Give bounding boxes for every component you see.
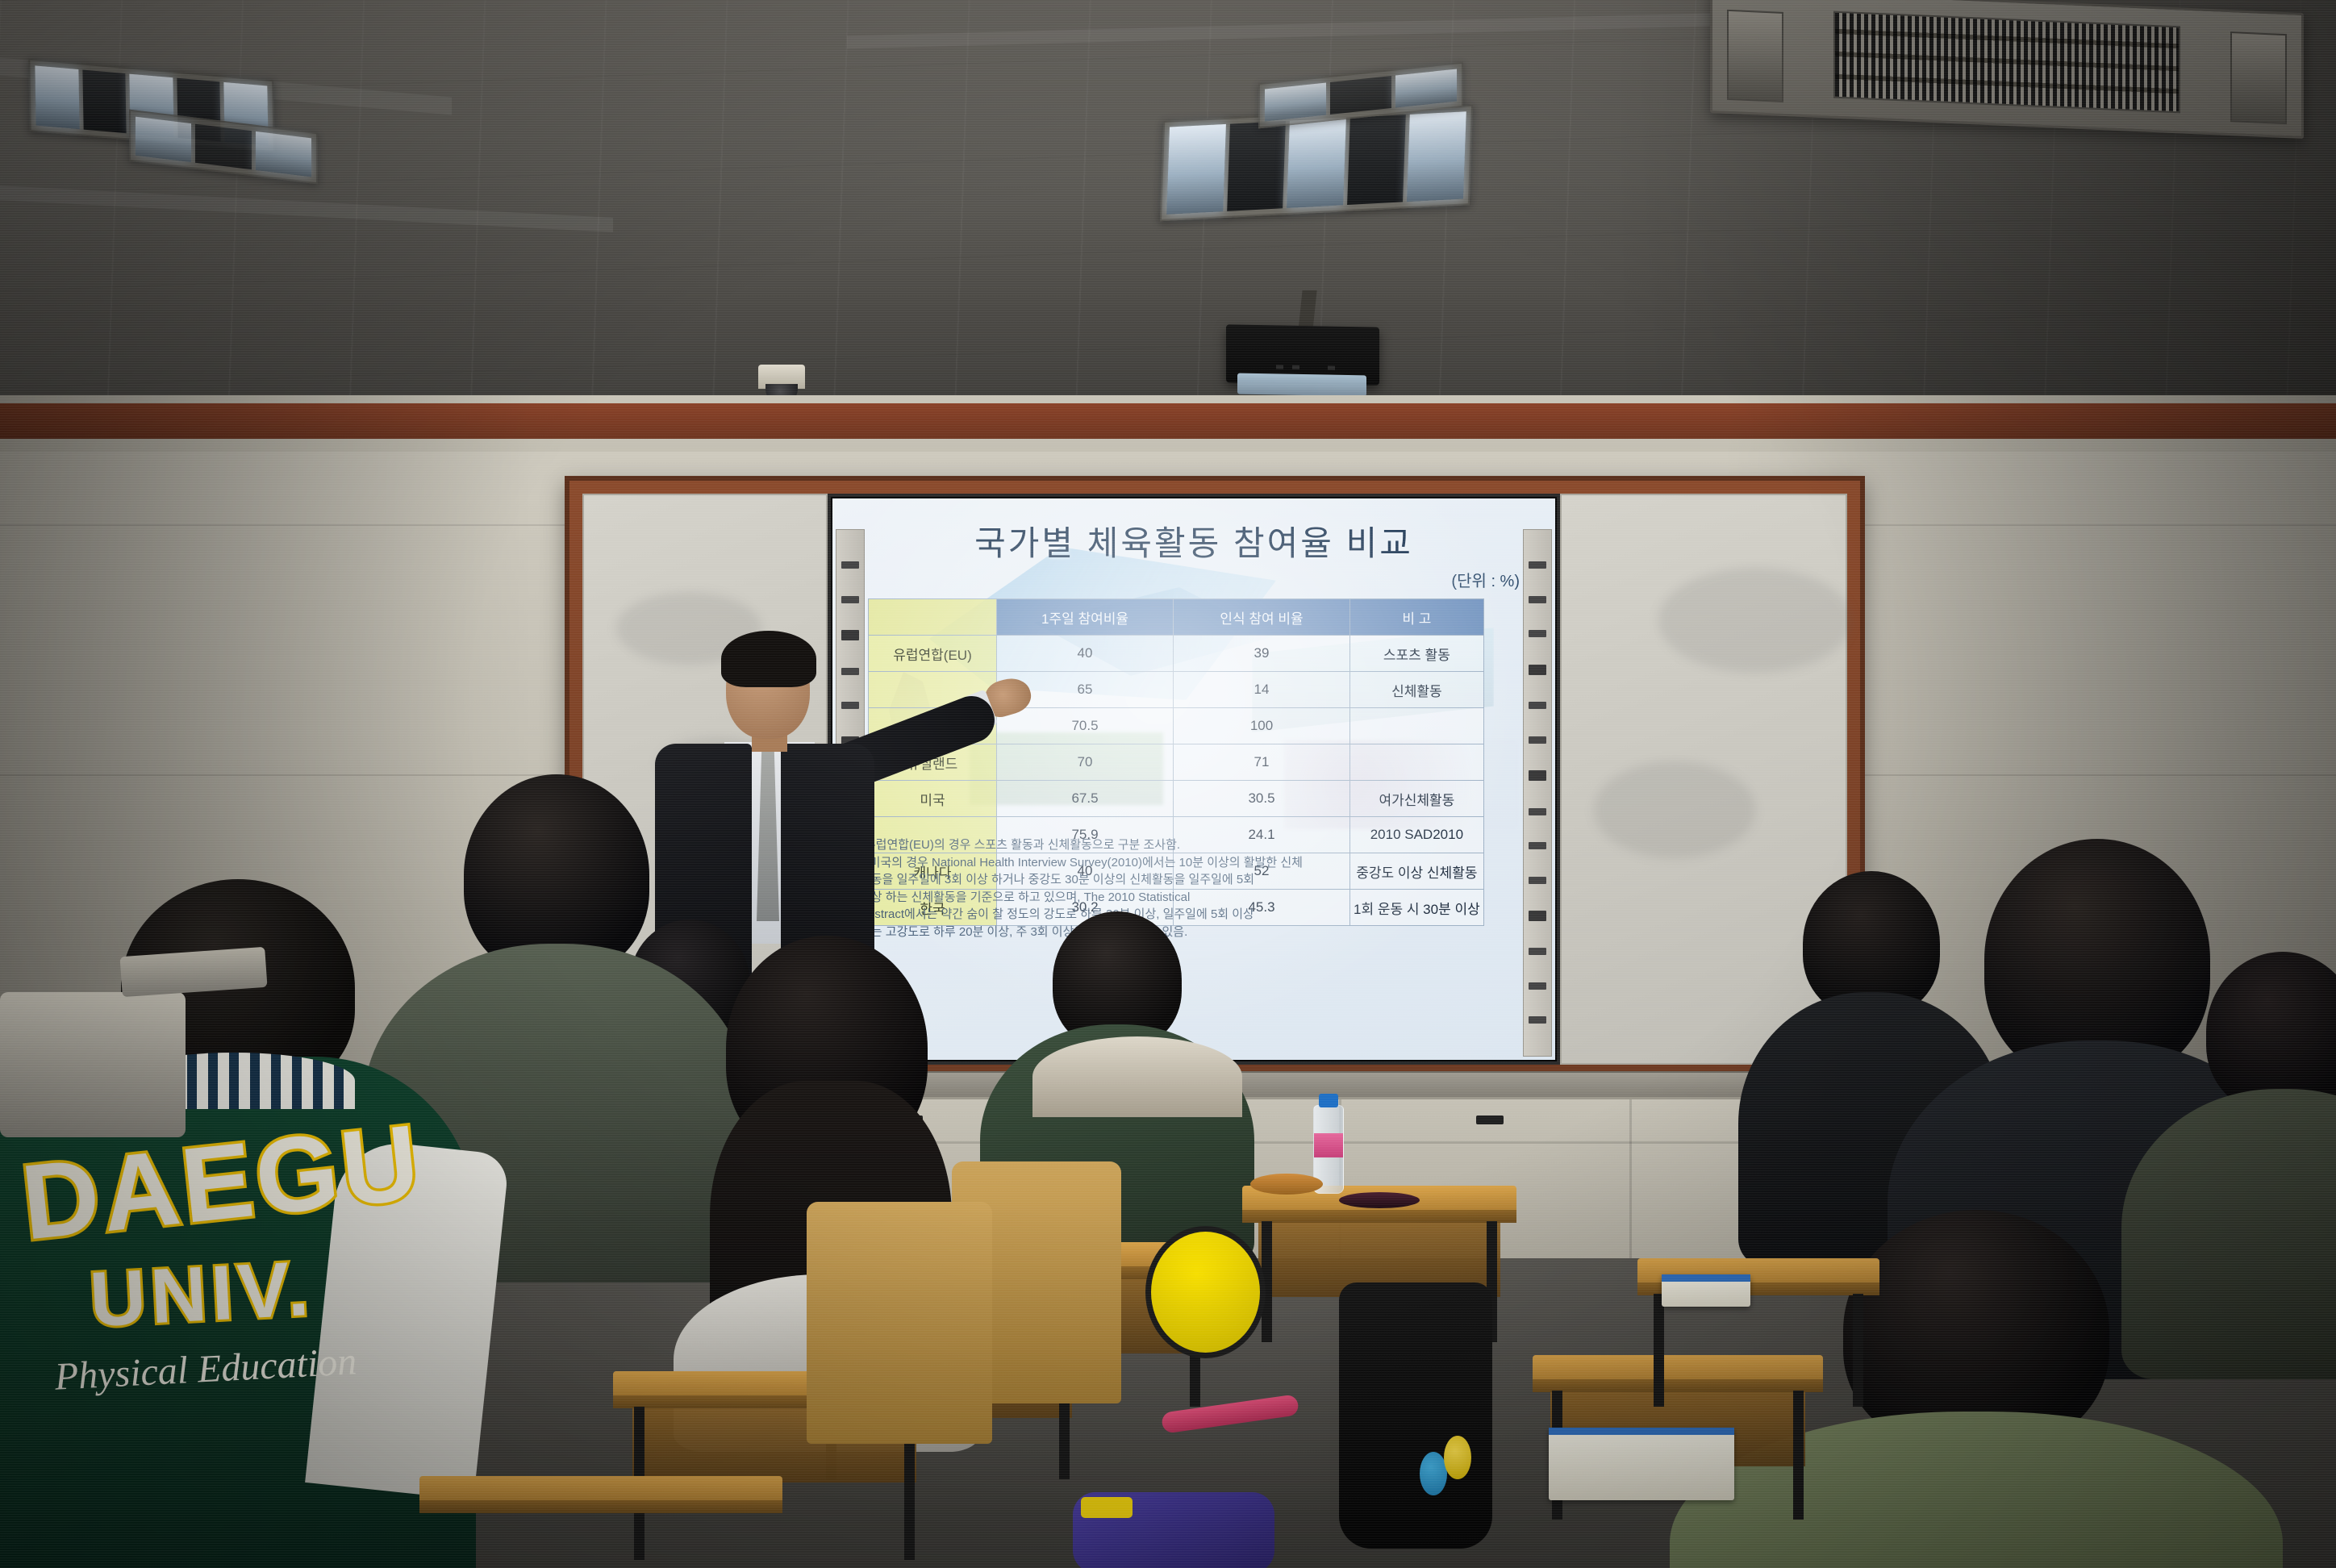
iwb-tool-icon[interactable] xyxy=(1529,630,1546,637)
desk-leg xyxy=(1654,1294,1664,1407)
slide-title: 국가별 체육활동 참여율 비교 xyxy=(832,516,1555,565)
table-cell-note xyxy=(1350,708,1484,744)
projector-icon xyxy=(1226,324,1379,385)
plush-keychain-icon xyxy=(1444,1436,1471,1479)
bag-tag xyxy=(1081,1497,1133,1518)
table-cell-note: 신체활동 xyxy=(1350,672,1484,708)
light-louver xyxy=(1330,76,1391,115)
light-tube xyxy=(1395,69,1457,107)
presenter-hair xyxy=(721,631,816,687)
table-cell-value2: 100 xyxy=(1174,708,1350,744)
table-header-col3: 비 고 xyxy=(1350,599,1484,636)
iwb-tool-icon[interactable] xyxy=(1529,736,1546,744)
iwb-tool-icon[interactable] xyxy=(1529,842,1546,849)
iwb-tool-icon[interactable] xyxy=(1529,982,1546,990)
seat-cushion[interactable] xyxy=(1145,1226,1266,1358)
student-hood xyxy=(1032,1036,1242,1117)
table-cell-value2: 14 xyxy=(1174,672,1350,708)
notebook-spine xyxy=(1549,1428,1734,1435)
light-tube xyxy=(35,65,79,129)
desk-leg xyxy=(1793,1391,1804,1520)
table-header-col2: 인식 참여 비율 xyxy=(1174,599,1350,636)
light-louver xyxy=(1347,115,1406,205)
light-louver xyxy=(82,69,127,133)
light-tube xyxy=(1265,83,1326,122)
plush-keychain-icon xyxy=(1420,1452,1447,1495)
notebook[interactable] xyxy=(1662,1274,1750,1307)
table-cell-note: 스포츠 활동 xyxy=(1350,636,1484,672)
light-tube xyxy=(256,131,311,177)
snack-item xyxy=(1250,1174,1323,1195)
cabinet-handle[interactable] xyxy=(1476,1116,1504,1124)
table-cell-note xyxy=(1350,744,1484,781)
iwb-tool-icon[interactable] xyxy=(1529,877,1546,884)
ac-vane xyxy=(2230,31,2287,124)
whiteboard-smudge xyxy=(1658,568,1852,673)
purple-bag[interactable] xyxy=(1073,1492,1274,1568)
light-louver xyxy=(195,124,251,170)
light-tube xyxy=(1287,118,1345,208)
student-chair[interactable] xyxy=(807,1202,992,1444)
iwb-tool-icon[interactable] xyxy=(1529,911,1546,921)
security-camera-icon xyxy=(758,365,805,389)
iwb-tool-icon[interactable] xyxy=(1529,1016,1546,1024)
dark-object xyxy=(1339,1192,1420,1208)
desk-top xyxy=(419,1476,782,1503)
table-cell-value2: 71 xyxy=(1174,744,1350,781)
iwb-tool-icon[interactable] xyxy=(1529,596,1546,603)
slide-unit-label: (단위 : %) xyxy=(1451,568,1520,591)
table-cell-value2: 39 xyxy=(1174,636,1350,672)
backpack[interactable] xyxy=(1339,1282,1492,1549)
iwb-toolbar-right[interactable] xyxy=(1523,529,1552,1057)
iwb-tool-icon[interactable] xyxy=(1529,665,1546,675)
light-tube xyxy=(1407,111,1466,202)
bottle-label xyxy=(1314,1133,1343,1157)
iwb-tool-icon[interactable] xyxy=(841,561,859,569)
student-desk[interactable] xyxy=(419,1476,782,1568)
projector-led xyxy=(1328,366,1335,370)
table-cell-note: 여가신체활동 xyxy=(1350,781,1484,817)
iwb-tool-icon[interactable] xyxy=(1529,561,1546,569)
notebook[interactable] xyxy=(1549,1428,1734,1500)
desk-edge xyxy=(1242,1210,1516,1223)
light-tube xyxy=(1166,124,1225,215)
iwb-tool-icon[interactable] xyxy=(1529,702,1546,709)
projector-lens xyxy=(1237,373,1366,397)
projector-led xyxy=(1292,365,1299,369)
bottle-cap xyxy=(1319,1094,1338,1107)
iwb-tool-icon[interactable] xyxy=(841,596,859,603)
iwb-tool-icon[interactable] xyxy=(1529,770,1546,781)
iwb-tool-icon[interactable] xyxy=(1529,808,1546,815)
jacket-text-univ: UNIV. xyxy=(22,1241,381,1349)
lecture-hall-photo: 국가별 체육활동 참여율 비교 (단위 : %) 1주일 참여비율 인식 참여 … xyxy=(0,0,2336,1568)
notebook-spine xyxy=(1662,1274,1750,1282)
projector-led xyxy=(1276,365,1283,369)
ac-vane xyxy=(1727,10,1783,102)
desk-leg xyxy=(1853,1294,1863,1407)
cabinet-divider xyxy=(1629,1099,1632,1285)
empty-chair[interactable] xyxy=(0,992,186,1137)
table-cell-value2: 30.5 xyxy=(1174,781,1350,817)
iwb-tool-icon[interactable] xyxy=(1529,948,1546,955)
whiteboard-smudge xyxy=(1594,761,1755,858)
light-louver xyxy=(1227,121,1286,211)
light-tube xyxy=(136,117,191,163)
ac-grille xyxy=(1833,11,2180,114)
desk-edge xyxy=(419,1500,782,1513)
